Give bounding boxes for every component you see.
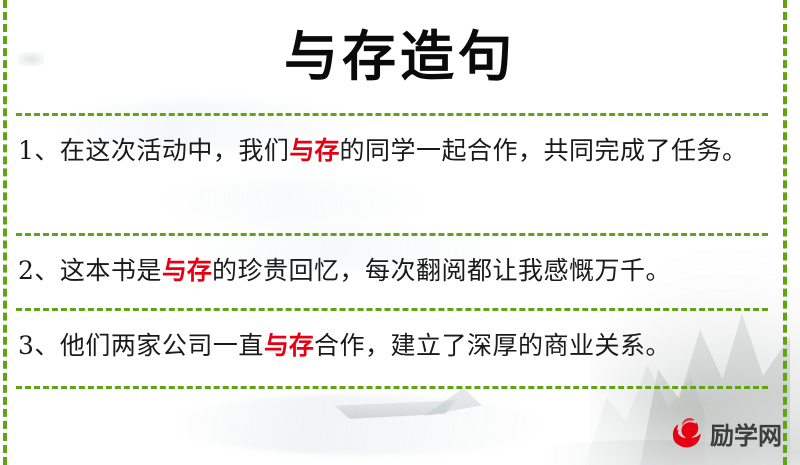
- dashed-separator: [16, 233, 768, 236]
- sentence-text-before: 在这次活动中，我们: [60, 136, 290, 165]
- ink-boat-sail: [420, 388, 482, 416]
- sentence-number: 2、: [18, 256, 60, 285]
- sentence-text-before: 他们两家公司一直: [60, 331, 264, 360]
- page-title: 与存造句: [0, 22, 800, 90]
- sentence-item-2: 2、这本书是与存的珍贵回忆，每次翻阅都让我感慨万千。: [18, 248, 768, 293]
- dashed-separator: [16, 308, 768, 311]
- sentence-number: 1、: [18, 136, 60, 165]
- sentence-text-after: 的同学一起合作，共同完成了任务。: [339, 136, 747, 165]
- sentence-text-after: 合作，建立了深厚的商业关系。: [314, 331, 671, 360]
- dashed-separator: [16, 113, 768, 116]
- sentence-card-page: 与存造句 1、在这次活动中，我们与存的同学一起合作，共同完成了任务。 2、这本书…: [0, 0, 800, 465]
- sentence-item-3: 3、他们两家公司一直与存合作，建立了深厚的商业关系。: [18, 323, 768, 368]
- sentence-number: 3、: [18, 331, 60, 360]
- site-logo[interactable]: 励学网: [666, 414, 788, 458]
- sentence-item-1: 1、在这次活动中，我们与存的同学一起合作，共同完成了任务。: [18, 128, 768, 173]
- ink-mist-middle: [150, 180, 430, 225]
- sentence-text-after: 的珍贵回忆，每次翻阅都让我感慨万千。: [212, 256, 671, 285]
- flame-swirl-icon: [666, 416, 706, 456]
- dashed-separator: [16, 386, 768, 389]
- site-logo-text: 励学网: [710, 423, 782, 449]
- keyword-highlight: 与存: [264, 331, 314, 360]
- ink-water-wash: [170, 395, 540, 455]
- ink-boat-hull: [335, 398, 455, 420]
- keyword-highlight: 与存: [162, 256, 212, 285]
- sentence-text-before: 这本书是: [60, 256, 162, 285]
- keyword-highlight: 与存: [289, 136, 339, 165]
